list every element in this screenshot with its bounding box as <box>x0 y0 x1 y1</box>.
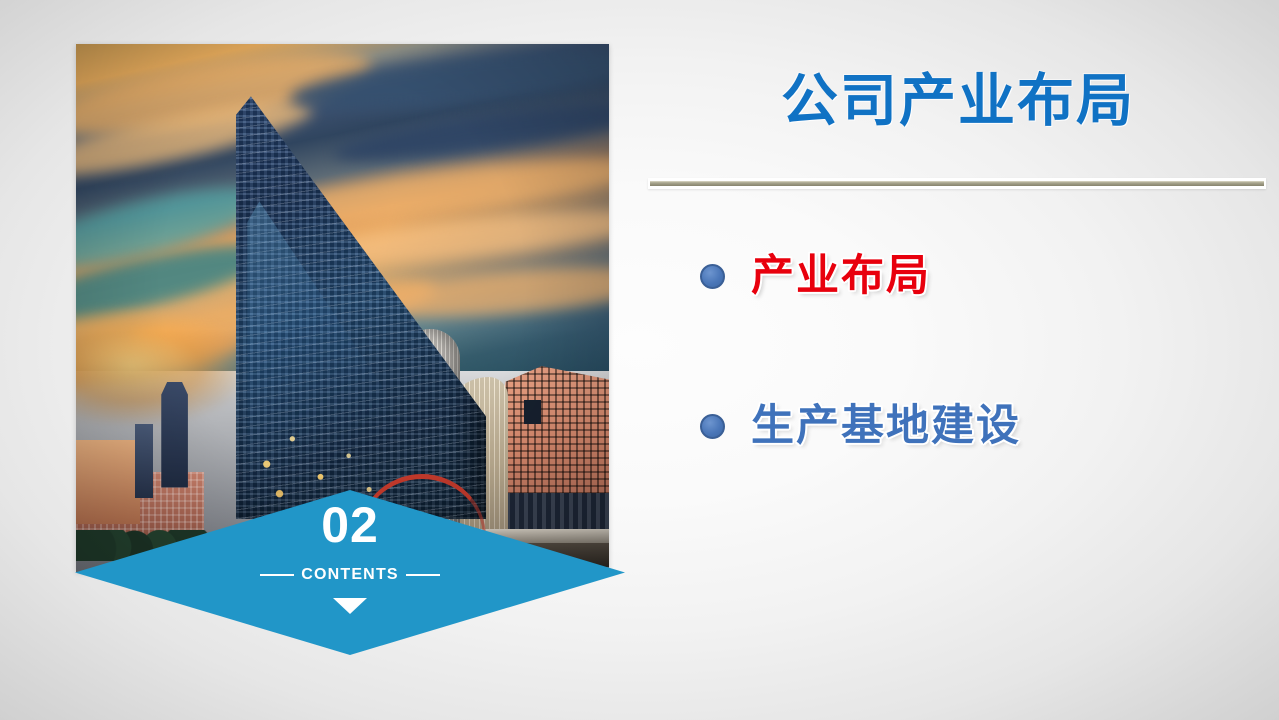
contents-label-row: CONTENTS <box>75 566 625 584</box>
slim-tower <box>135 424 153 498</box>
dash-right-icon <box>406 574 440 576</box>
down-triangle-icon <box>333 598 367 614</box>
slide-canvas: 02 CONTENTS 公司产业布局 产业布局 生产基地建设 <box>0 0 1279 720</box>
list-item[interactable]: 生产基地建设 <box>700 390 1260 462</box>
page-title: 公司产业布局 <box>648 70 1268 133</box>
title-divider <box>648 178 1266 189</box>
section-number: 02 <box>75 500 625 550</box>
bullet-label-production-base: 生产基地建设 <box>751 405 1021 448</box>
tower-notch <box>524 400 541 424</box>
bullet-dot-icon <box>700 414 725 439</box>
window-lights <box>236 308 492 519</box>
list-item[interactable]: 产业布局 <box>700 240 1260 312</box>
bullet-dot-icon <box>700 264 725 289</box>
bullet-list: 产业布局 生产基地建设 <box>700 240 1260 462</box>
contents-label: CONTENTS <box>301 566 399 584</box>
bullet-label-industry-layout: 产业布局 <box>751 255 931 298</box>
slim-tower <box>161 382 188 488</box>
dash-left-icon <box>260 574 294 576</box>
divider-bar <box>650 181 1264 186</box>
